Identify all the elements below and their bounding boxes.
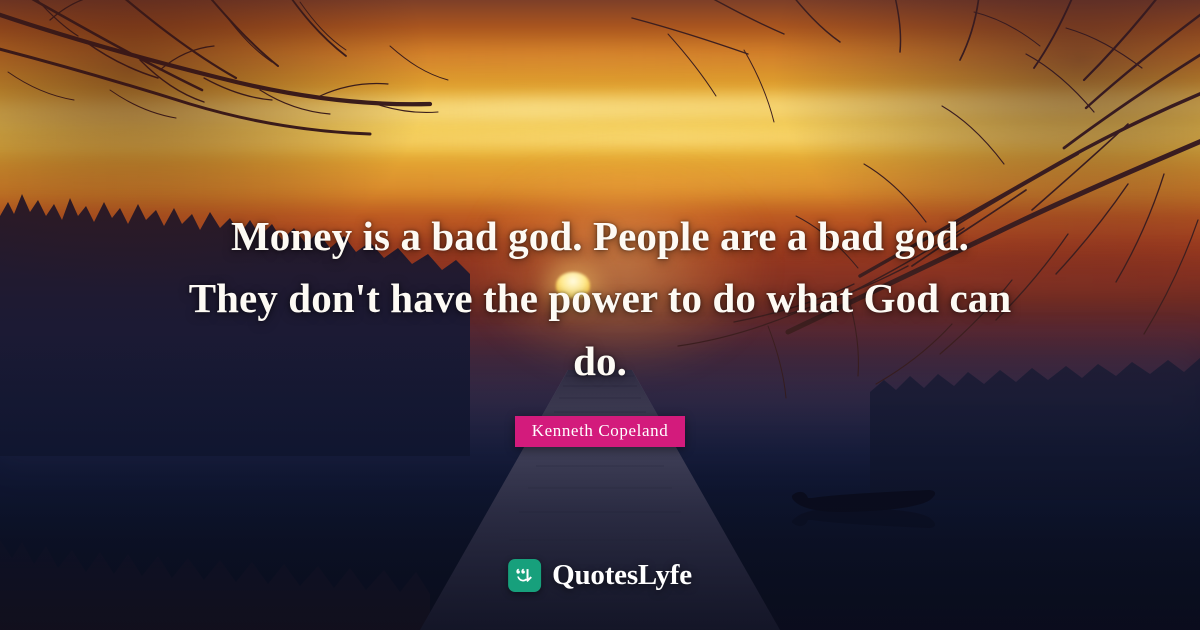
- quote-line: Money is a bad god. People are a bad god…: [95, 205, 1105, 267]
- quote-card: Money is a bad god. People are a bad god…: [0, 0, 1200, 630]
- quote-smiley-icon: [508, 559, 541, 592]
- quote-line: do.: [95, 330, 1105, 392]
- author-badge[interactable]: Kenneth Copeland: [515, 416, 686, 448]
- brand-logo[interactable]: QuotesLyfe: [508, 559, 692, 592]
- brand-name: QuotesLyfe: [552, 559, 692, 592]
- quote-text: Money is a bad god. People are a bad god…: [95, 205, 1105, 392]
- quote-content: Money is a bad god. People are a bad god…: [0, 0, 1200, 630]
- quote-line: They don't have the power to do what God…: [95, 267, 1105, 329]
